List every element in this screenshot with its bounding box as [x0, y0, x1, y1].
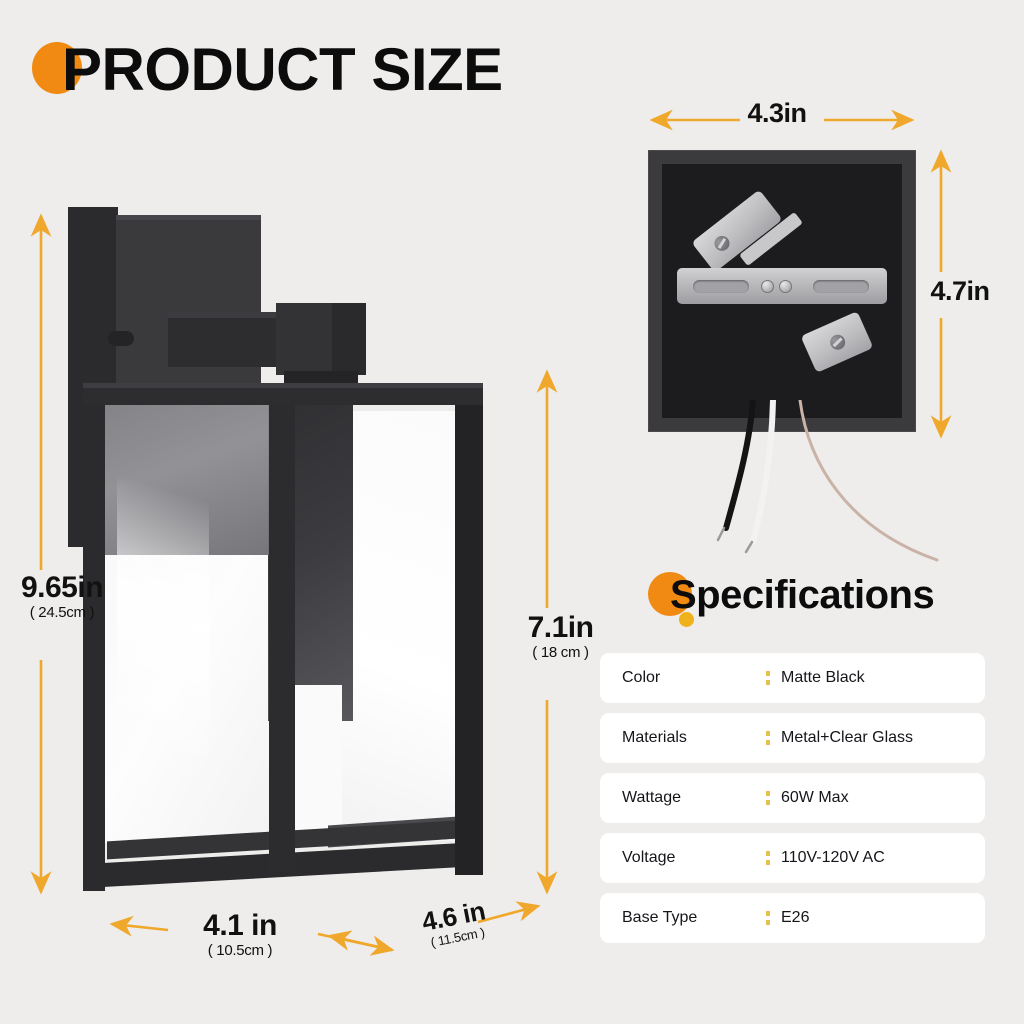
- table-row: Base Type E26: [600, 893, 985, 943]
- wire-black-tip: [718, 528, 724, 540]
- spec-key: Wattage: [600, 789, 755, 807]
- lantern-glass-right: [338, 411, 458, 841]
- colon-separator-icon: [755, 731, 781, 745]
- crossbar-slot-right: [813, 280, 869, 293]
- bracket-wires: [640, 400, 960, 580]
- wire-copper-ground: [800, 400, 937, 560]
- table-row: Color Matte Black: [600, 653, 985, 703]
- colon-separator-icon: [755, 851, 781, 865]
- lamp-knob: [108, 331, 134, 346]
- spec-key: Color: [600, 669, 755, 687]
- dimension-label-height: 9.65in ( 24.5cm ): [2, 572, 122, 622]
- dimension-depth-inches: 7.1in: [508, 612, 613, 644]
- lamp-arm-highlight: [168, 312, 283, 318]
- dimension-plate-width-inches: 4.3in: [712, 98, 842, 128]
- lantern-glass-sheen: [117, 413, 209, 833]
- dimension-width-inches: 4.1 in: [170, 910, 310, 942]
- lamp-socket-box-side: [332, 303, 366, 375]
- dimension-depth-cm: ( 18 cm ): [508, 644, 613, 662]
- page-title: PRODUCT SIZE: [30, 40, 503, 100]
- crossbar-hole-left: [761, 280, 774, 293]
- wire-white: [753, 400, 773, 542]
- lantern-top-highlight: [83, 383, 483, 388]
- dimension-height-cm: ( 24.5cm ): [2, 604, 122, 622]
- lamp-socket-foot: [284, 371, 358, 383]
- spec-value: Metal+Clear Glass: [781, 729, 913, 747]
- lamp-arm: [168, 312, 283, 367]
- page-title-text: PRODUCT SIZE: [62, 40, 503, 100]
- spec-value: E26: [781, 909, 809, 927]
- wire-black: [726, 400, 753, 528]
- screw-icon: [711, 233, 732, 254]
- table-row: Materials Metal+Clear Glass: [600, 713, 985, 763]
- spec-key: Voltage: [600, 849, 755, 867]
- infographic-canvas: PRODUCT SIZE: [0, 0, 1024, 1024]
- bracket-crossbar: [677, 268, 887, 304]
- specifications-heading: Specifications: [648, 572, 934, 618]
- arrow-width-right: [318, 934, 392, 950]
- colon-separator-icon: [755, 671, 781, 685]
- table-row: Wattage 60W Max: [600, 773, 985, 823]
- lantern-frame-left: [83, 383, 105, 891]
- lantern-frame-middle: [269, 401, 295, 871]
- wire-white-tip: [746, 542, 752, 552]
- colon-separator-icon: [755, 791, 781, 805]
- lantern-frame-right: [455, 395, 483, 875]
- arrow-width-back-left: [330, 936, 392, 950]
- crossbar-hole-right: [779, 280, 792, 293]
- specifications-heading-text: Specifications: [670, 572, 934, 618]
- spec-key: Materials: [600, 729, 755, 747]
- colon-separator-icon: [755, 911, 781, 925]
- table-row: Voltage 110V-120V AC: [600, 833, 985, 883]
- product-lamp-illustration: [60, 195, 530, 915]
- dimension-label-depth: 7.1in ( 18 cm ): [508, 612, 613, 662]
- lamp-glass-lantern: [83, 383, 483, 891]
- dimension-label-plate-width: 4.3in: [712, 98, 842, 128]
- spec-value: 110V-120V AC: [781, 849, 885, 867]
- crossbar-slot-left: [693, 280, 749, 293]
- dimension-plate-height-inches: 4.7in: [905, 276, 1015, 306]
- dimension-height-inches: 9.65in: [2, 572, 122, 604]
- screw-icon: [828, 332, 848, 352]
- dimension-label-width: 4.1 in ( 10.5cm ): [170, 910, 310, 960]
- spec-value: 60W Max: [781, 789, 849, 807]
- spec-key: Base Type: [600, 909, 755, 927]
- spec-value: Matte Black: [781, 669, 865, 687]
- lamp-backplate-bevel: [116, 215, 261, 220]
- arrow-width-left: [112, 924, 168, 930]
- dimension-width-cm: ( 10.5cm ): [170, 942, 310, 960]
- specifications-table: Color Matte Black Materials Metal+Clear …: [600, 653, 985, 953]
- dimension-label-plate-height: 4.7in: [905, 276, 1015, 306]
